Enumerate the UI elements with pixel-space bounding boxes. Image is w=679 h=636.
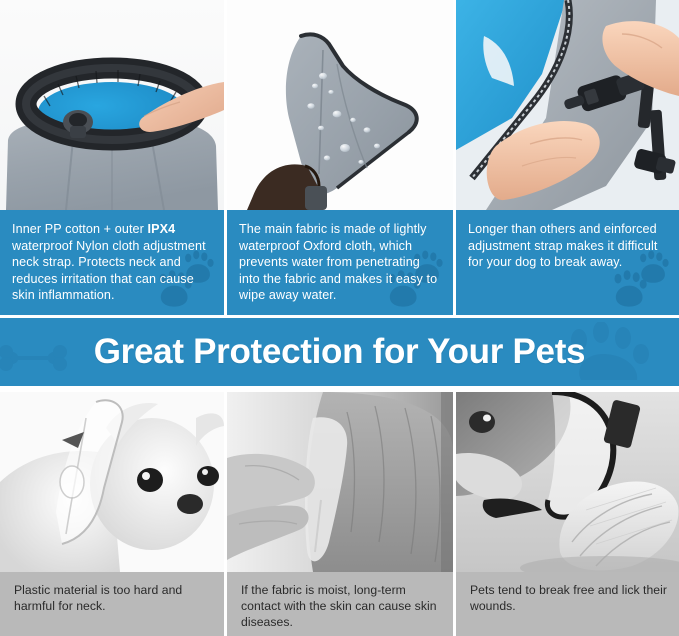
caption-text-waterproof-fabric: The main fabric is made of lightly water… xyxy=(239,221,441,304)
caption-text-collar-rim: Inner PP cotton + outer IPX4 waterproof … xyxy=(12,221,212,304)
caption-text-buckle-strap: Longer than others and einforced adjustm… xyxy=(468,221,667,271)
headline-banner: Great Protection for Your Pets xyxy=(0,318,679,386)
caption-text-plastic-cone: Plastic material is too hard and harmful… xyxy=(14,582,212,614)
feature-cell-collar-rim: Inner PP cotton + outer IPX4 waterproof … xyxy=(0,0,224,315)
feature-cell-waterproof-fabric: The main fabric is made of lightly water… xyxy=(227,0,453,315)
feature-cell-buckle-strap: Longer than others and einforced adjustm… xyxy=(456,0,679,315)
feature-caption-buckle-strap: Longer than others and einforced adjustm… xyxy=(456,210,679,315)
problem-cell-plastic-cone: Plastic material is too hard and harmful… xyxy=(0,392,224,636)
caption-text-lick-wounds: Pets tend to break free and lick their w… xyxy=(470,582,667,614)
problem-caption-moist-fabric: If the fabric is moist, long-term contac… xyxy=(227,572,453,636)
dog-licking-bandage-photo xyxy=(456,392,679,572)
collar-rim-closeup-photo xyxy=(0,0,224,210)
problem-cell-moist-fabric: If the fabric is moist, long-term contac… xyxy=(227,392,453,636)
page-title: Great Protection for Your Pets xyxy=(94,332,585,372)
top-photo-row: Inner PP cotton + outer IPX4 waterproof … xyxy=(0,0,679,315)
buckle-strap-photo xyxy=(456,0,679,210)
problem-caption-lick-wounds: Pets tend to break free and lick their w… xyxy=(456,572,679,636)
feature-caption-waterproof-fabric: The main fabric is made of lightly water… xyxy=(227,210,453,315)
problem-caption-plastic-cone: Plastic material is too hard and harmful… xyxy=(0,572,224,636)
product-feature-infographic: Inner PP cotton + outer IPX4 waterproof … xyxy=(0,0,679,636)
bottom-photo-row: Plastic material is too hard and harmful… xyxy=(0,392,679,636)
plastic-cone-dog-photo xyxy=(0,392,224,572)
caption-text-moist-fabric: If the fabric is moist, long-term contac… xyxy=(241,582,441,630)
wet-fur-skin-photo xyxy=(227,392,453,572)
water-beading-fabric-photo xyxy=(227,0,453,210)
feature-caption-collar-rim: Inner PP cotton + outer IPX4 waterproof … xyxy=(0,210,224,315)
problem-cell-lick-wounds: Pets tend to break free and lick their w… xyxy=(456,392,679,636)
